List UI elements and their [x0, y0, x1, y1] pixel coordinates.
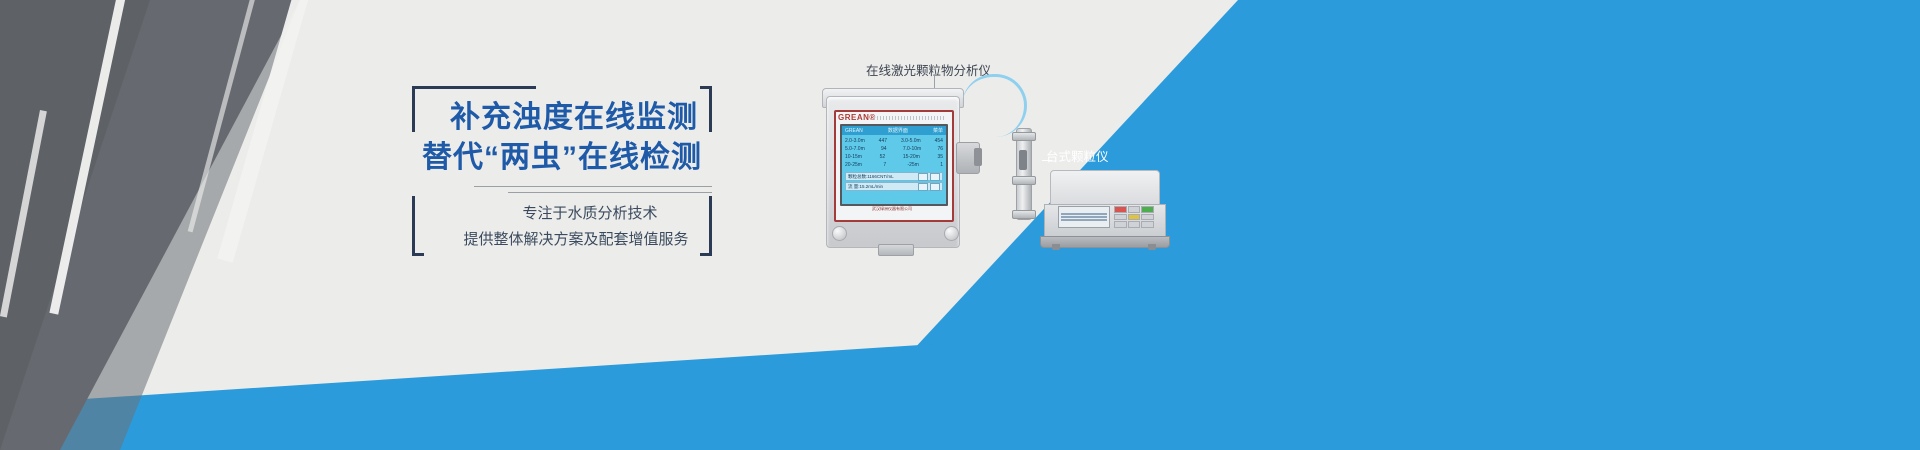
keypad-key[interactable] — [1141, 214, 1154, 221]
keypad-key[interactable] — [1114, 214, 1127, 221]
display-text-line — [1061, 219, 1107, 221]
online-particle-analyzer: GREAN® GREAN 数据界面 菜单 2.0-3.0m 447 3.0-5.… — [818, 86, 968, 266]
table-row: 10-15m 52 15-20m 35 — [845, 153, 943, 161]
lcd-title-right: 菜单 — [933, 127, 943, 134]
cell-size-a: 20-25m — [845, 161, 862, 169]
keypad-key[interactable] — [1141, 206, 1154, 213]
valve-sight-glass — [1019, 150, 1027, 170]
benchtop-keypad[interactable] — [1114, 206, 1154, 228]
display-text-line — [1061, 213, 1107, 215]
table-row: 20-25m 7 -25m 1 — [845, 161, 943, 169]
keypad-key[interactable] — [1128, 206, 1141, 213]
divider-rule-lower — [508, 192, 712, 193]
cell-size-b: 7.0-10m — [903, 145, 921, 153]
lcd-button-group[interactable] — [918, 183, 940, 191]
valve-fitting-ring — [1012, 176, 1036, 185]
cell-count-b: 76 — [937, 145, 943, 153]
lcd-titlebar: GREAN 数据界面 菜单 — [842, 126, 946, 135]
analyzer-brand-logo: GREAN® — [838, 113, 876, 122]
lcd-button[interactable] — [930, 183, 940, 191]
headline-panel: 补充浊度在线监测 替代“两虫”在线检测 专注于水质分析技术 提供整体解决方案及配… — [412, 86, 712, 256]
analyzer-manufacturer-text: 武汉绿洲仪器有限公司 — [846, 206, 938, 214]
lcd-button[interactable] — [918, 183, 928, 191]
benchtop-upper-housing — [1050, 170, 1160, 208]
valve-fitting-ring — [1012, 132, 1036, 141]
analyzer-bottom-port — [878, 244, 914, 256]
status-total-count: 颗粒总数:1166CNT/mL — [848, 174, 894, 180]
page-title: 补充浊度在线监测 替代“两虫”在线检测 — [412, 98, 712, 178]
lcd-status-row-total: 颗粒总数:1166CNT/mL — [845, 172, 943, 181]
table-row: 5.0-7.0m 94 7.0-10m 76 — [845, 145, 943, 153]
label-leader-line — [1042, 160, 1052, 161]
cell-count-a: 7 — [883, 161, 886, 169]
cell-size-a: 5.0-7.0m — [845, 145, 865, 153]
analyzer-latch-knob[interactable] — [944, 226, 959, 241]
lcd-button[interactable] — [918, 173, 928, 181]
lcd-button-group[interactable] — [918, 173, 940, 181]
analyzer-lcd-screen[interactable]: GREAN 数据界面 菜单 2.0-3.0m 447 3.0-5.0m 454 … — [840, 124, 948, 206]
benchtop-foot — [1148, 244, 1156, 250]
product-label-online-analyzer: 在线激光颗粒物分析仪 — [866, 60, 991, 79]
cell-size-b: 3.0-5.0m — [901, 137, 921, 145]
benchtop-foot — [1052, 244, 1060, 250]
sample-valve-column — [1016, 128, 1032, 220]
cell-size-b: 15-20m — [903, 153, 920, 161]
cell-count-a: 94 — [881, 145, 887, 153]
subtitle-line-1: 专注于水质分析技术 — [412, 202, 740, 226]
divider-rule-upper — [474, 186, 712, 187]
product-label-benchtop: 台式颗粒仪 — [1046, 146, 1109, 165]
headline-line-1: 补充浊度在线监测 — [412, 98, 712, 138]
bracket-top-left-horizontal — [412, 86, 536, 89]
lcd-title-center: 数据界面 — [888, 127, 908, 134]
analyzer-side-fitting — [974, 148, 982, 166]
keypad-key[interactable] — [1128, 214, 1141, 221]
lcd-status-row-flow: 流 量:15.2mL/min — [845, 182, 943, 191]
cell-count-b: 454 — [935, 137, 943, 145]
cell-size-a: 2.0-3.0m — [845, 137, 865, 145]
display-text-line — [1061, 216, 1107, 218]
table-row: 2.0-3.0m 447 3.0-5.0m 454 — [845, 137, 943, 145]
headline-line-2: 替代“两虫”在线检测 — [412, 138, 712, 178]
status-flow-rate: 流 量:15.2mL/min — [848, 184, 883, 190]
lcd-data-grid: 2.0-3.0m 447 3.0-5.0m 454 5.0-7.0m 94 7.… — [842, 135, 946, 171]
keypad-key[interactable] — [1128, 221, 1141, 228]
cell-size-a: 10-15m — [845, 153, 862, 161]
cell-size-b: -25m — [907, 161, 918, 169]
keypad-key[interactable] — [1114, 206, 1127, 213]
subtitle-line-2: 提供整体解决方案及配套增值服务 — [412, 228, 726, 252]
promo-banner: 补充浊度在线监测 替代“两虫”在线检测 专注于水质分析技术 提供整体解决方案及配… — [0, 0, 1920, 450]
analyzer-latch-knob[interactable] — [832, 226, 847, 241]
valve-fitting-ring — [1012, 210, 1036, 219]
keypad-key[interactable] — [1141, 221, 1154, 228]
benchtop-particle-counter — [1040, 170, 1170, 260]
lcd-title-left: GREAN — [845, 128, 863, 134]
benchtop-display[interactable] — [1058, 206, 1110, 228]
cell-count-a: 447 — [879, 137, 887, 145]
cell-count-b: 1 — [940, 161, 943, 169]
analyzer-vent-hatching — [874, 116, 944, 120]
cell-count-a: 52 — [880, 153, 886, 161]
cell-count-b: 35 — [937, 153, 943, 161]
keypad-key[interactable] — [1114, 221, 1127, 228]
lcd-button[interactable] — [930, 173, 940, 181]
